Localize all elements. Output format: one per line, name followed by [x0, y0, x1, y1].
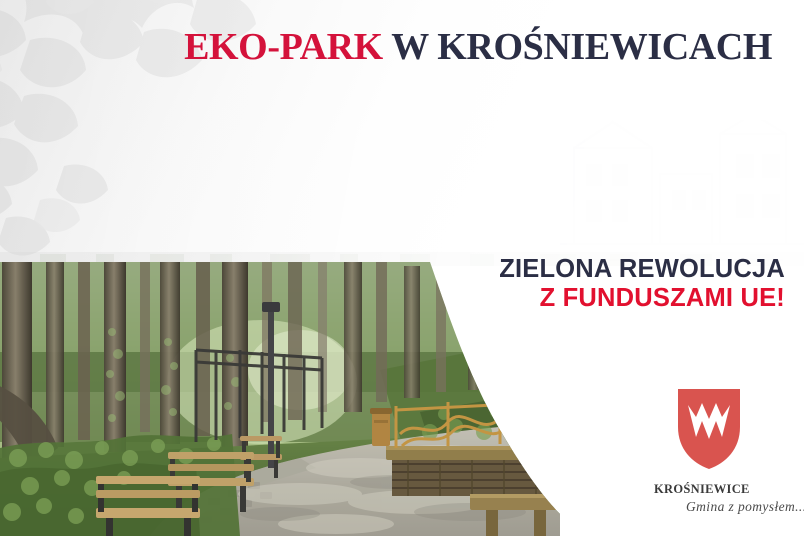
- coat-of-arms-shield-icon: [676, 387, 742, 471]
- park-photo-illustration: [0, 262, 560, 536]
- crest-tagline: Gmina z pomysłem...: [686, 499, 804, 515]
- headline-w-krosniewicach: W KROŚNIEWICACH: [383, 26, 772, 68]
- crest-municipality-name: KROŚNIEWICE: [654, 482, 804, 497]
- headline-eko-park: EKO-PARK: [184, 26, 383, 68]
- park-photo: [0, 262, 560, 536]
- poster-canvas: EKO-PARK W KROŚNIEWICACH ZIELONA REWOLUC…: [0, 0, 804, 536]
- park-photo-frame: [0, 262, 560, 536]
- poster-headline: EKO-PARK W KROŚNIEWICACH: [0, 28, 772, 66]
